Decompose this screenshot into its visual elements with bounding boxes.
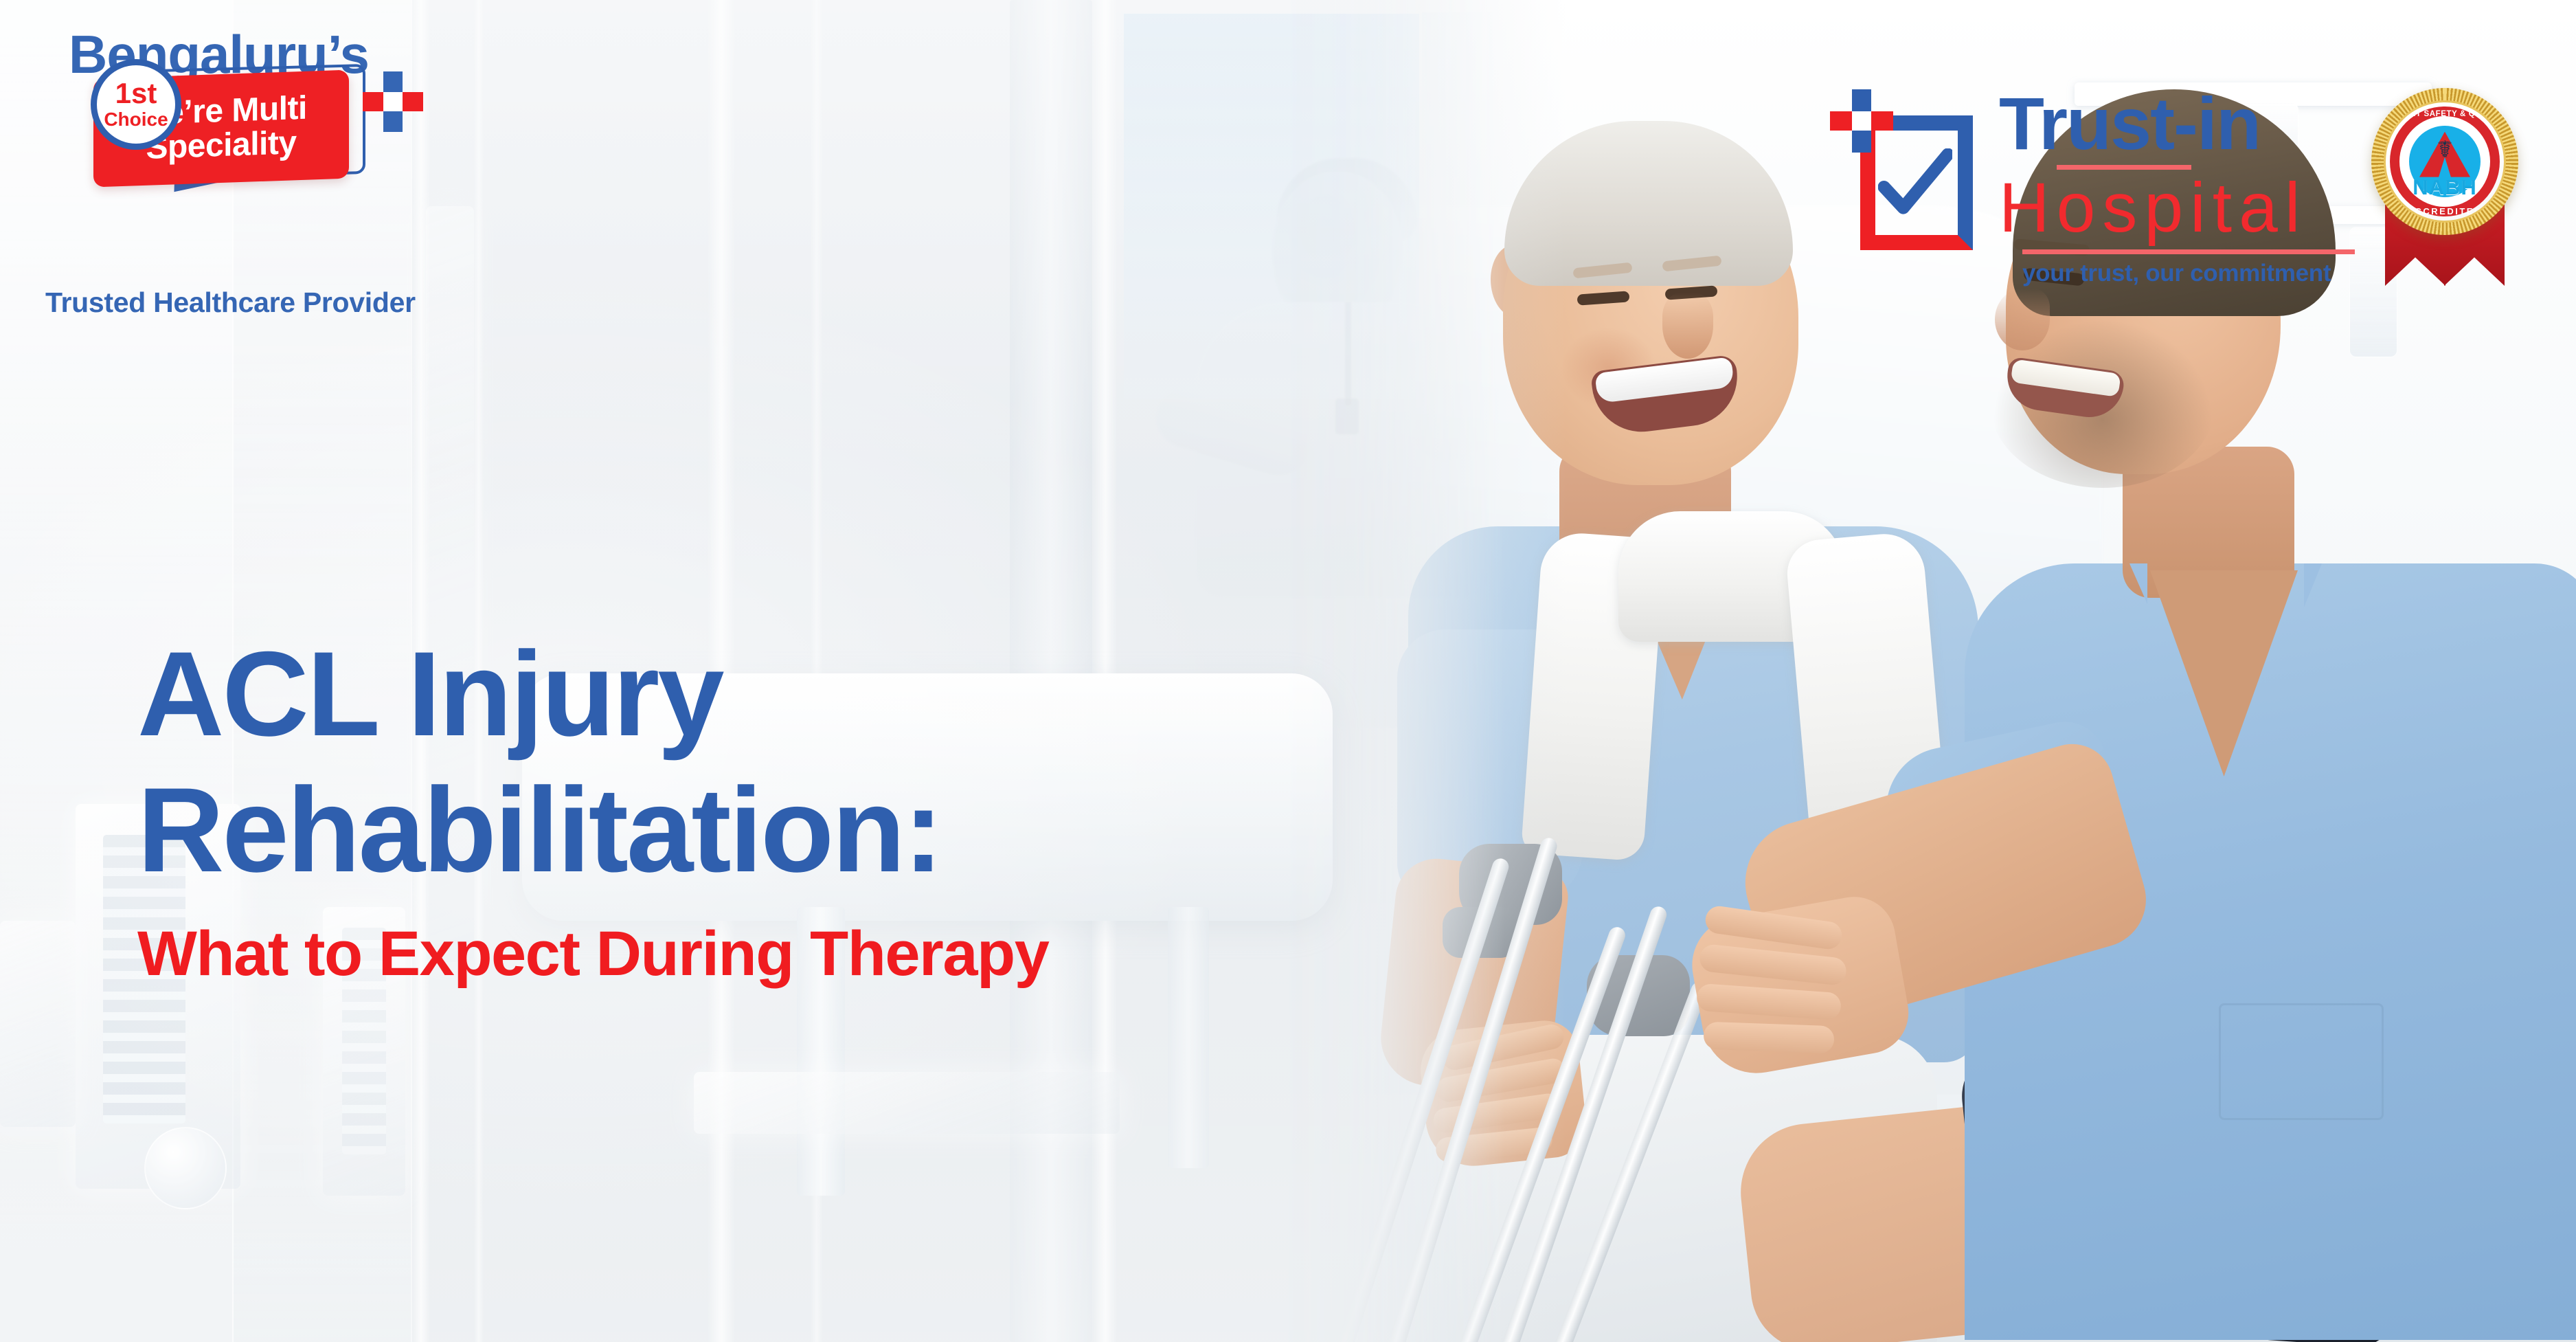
medical-cross-icon bbox=[1830, 89, 1893, 153]
brand-badge-left: Bengaluru’s We’re Multi Speciality 1st C… bbox=[25, 15, 464, 153]
headline-block: ACL Injury Rehabilitation: What to Expec… bbox=[137, 627, 1374, 985]
medical-cross-icon bbox=[363, 71, 423, 132]
caduceus-icon: ☤ bbox=[2437, 138, 2453, 161]
brand-tagline: Trusted Healthcare Provider bbox=[45, 287, 416, 319]
nabh-arc-top-text: PATIENT SAFETY & QUALITY OF CARE bbox=[2386, 110, 2504, 118]
logo-name-primary: Trust-in bbox=[1999, 87, 2366, 161]
logo-rule-large bbox=[2022, 249, 2355, 254]
nabh-accreditation-badge: ☤ NABH PATIENT SAFETY & QUALITY OF CARE … bbox=[2367, 88, 2522, 287]
first-choice-badge: 1st Choice bbox=[91, 59, 181, 150]
first-choice-sublabel: Choice bbox=[104, 109, 168, 131]
multi-speciality-bubble: We’re Multi Speciality 1st Choice bbox=[93, 70, 382, 201]
headline-line-1: ACL Injury bbox=[137, 627, 1374, 763]
hero-banner: Bengaluru’s We’re Multi Speciality 1st C… bbox=[0, 0, 2576, 1342]
nabh-arc-bottom-text: • ACCREDITED • bbox=[2386, 206, 2504, 216]
headline-subtitle: What to Expect During Therapy bbox=[137, 922, 1374, 985]
logo-motto: your trust, our commitment bbox=[2022, 260, 2366, 287]
checkbox-check-icon bbox=[1830, 89, 1980, 261]
first-choice-rank: 1st bbox=[115, 79, 157, 108]
logo-name-secondary: Hospital bbox=[1999, 172, 2366, 243]
checkmark-icon bbox=[1878, 148, 1952, 223]
hospital-logo[interactable]: Trust-in Hospital your trust, our commit… bbox=[1830, 89, 2366, 316]
nabh-acronym: NABH bbox=[2386, 175, 2504, 200]
headline-line-2: Rehabilitation: bbox=[137, 763, 1374, 899]
